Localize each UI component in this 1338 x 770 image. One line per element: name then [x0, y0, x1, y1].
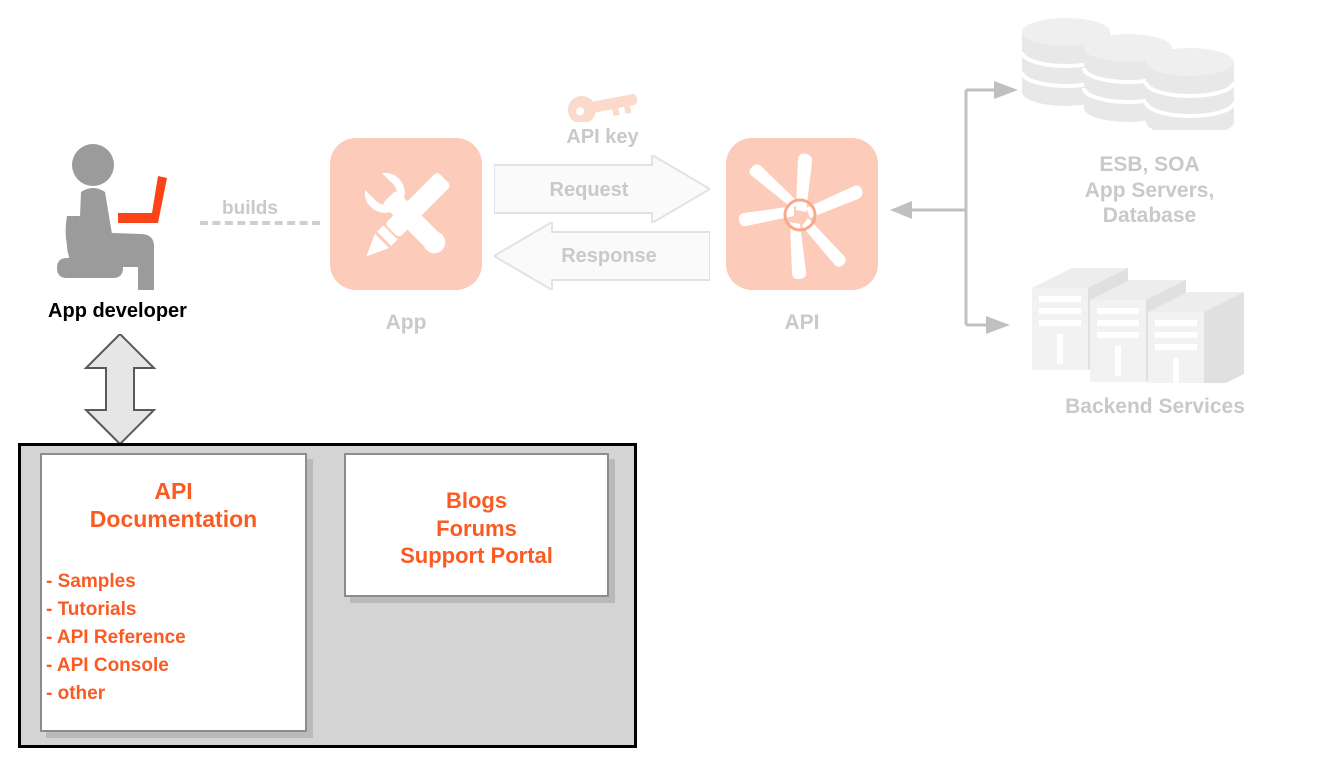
key-icon [565, 84, 639, 122]
list-item[interactable]: - Samples [46, 568, 305, 596]
list-item[interactable]: - API Console [46, 652, 305, 680]
response-label: Response [514, 245, 704, 268]
app-tile [330, 138, 482, 290]
server-rack-icon [1032, 268, 1267, 383]
diagram-canvas: App developer builds App [0, 0, 1338, 770]
app-developer-label: App developer [10, 300, 225, 323]
double-headed-vertical-arrow-icon [82, 334, 158, 444]
list-item[interactable]: - other [46, 680, 305, 708]
seated-developer-with-laptop-icon [55, 140, 180, 295]
list-item[interactable]: - Tutorials [46, 596, 305, 624]
esb-soa-database-label: ESB, SOA App Servers, Database [1012, 152, 1287, 229]
request-label: Request [494, 179, 684, 202]
api-documentation-list: - Samples - Tutorials - API Reference - … [42, 568, 305, 708]
blogs-forums-support-text: Blogs Forums Support Portal [346, 487, 607, 570]
builds-dashed-line [200, 221, 320, 225]
list-item[interactable]: - API Reference [46, 624, 305, 652]
api-label: API [726, 310, 878, 336]
api-key-label: API key [520, 125, 685, 149]
api-tile [726, 138, 878, 290]
backend-services-label: Backend Services [1000, 394, 1310, 420]
api-documentation-title: API Documentation [42, 477, 305, 533]
api-documentation-card[interactable]: API Documentation - Samples - Tutorials … [40, 453, 307, 732]
app-label: App [330, 310, 482, 336]
blogs-forums-support-card[interactable]: Blogs Forums Support Portal [344, 453, 609, 597]
database-stack-icon [1022, 18, 1272, 130]
builds-label: builds [185, 197, 315, 220]
